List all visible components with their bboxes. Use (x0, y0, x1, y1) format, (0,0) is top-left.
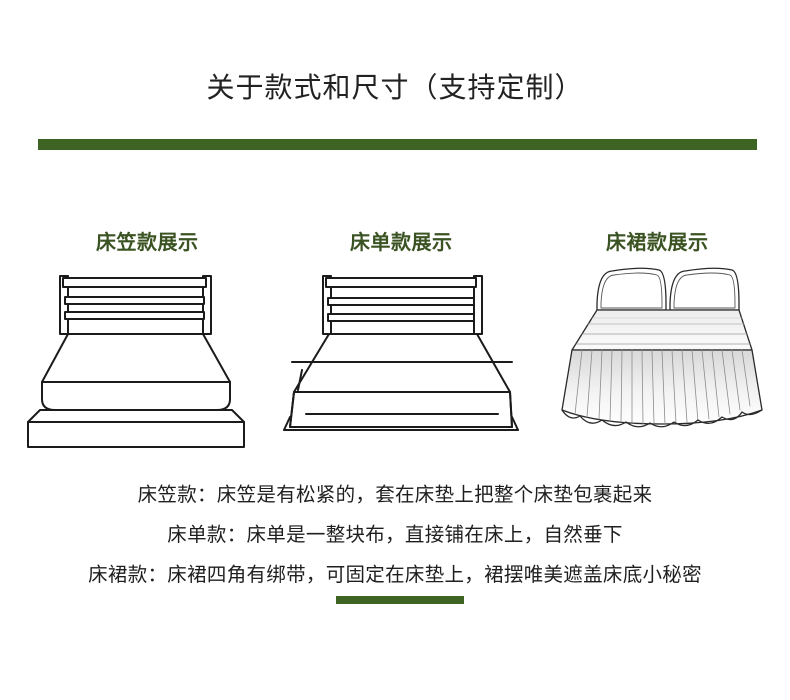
page-title: 关于款式和尺寸（支持定制） (0, 66, 790, 106)
bed-base (28, 410, 244, 447)
illustration-flat-sheet-bed (272, 262, 522, 452)
flat-sheet-drape (284, 334, 518, 430)
section-label-flat-sheet: 床单款展示 (350, 226, 453, 255)
bottom-divider (336, 596, 464, 604)
product-detail-page: 关于款式和尺寸（支持定制） 床笠款展示 床单款展示 床裙款展示 (0, 0, 790, 700)
illustration-fitted-sheet-bed (18, 262, 268, 452)
headboard-icon (323, 276, 482, 334)
description-line-bed-skirt: 床裙款：床裙四角有绑带，可固定在床垫上，裙摆唯美遮盖床底小秘密 (0, 558, 790, 587)
illustration-bed-skirt (524, 252, 776, 447)
top-divider (38, 139, 757, 150)
pillow-left (597, 268, 666, 310)
section-label-bed-skirt: 床裙款展示 (606, 226, 709, 255)
section-label-fitted-sheet: 床笠款展示 (96, 226, 199, 255)
description-line-fitted-sheet: 床笠款：床笠是有松紧的，套在床垫上把整个床垫包裹起来 (0, 478, 790, 507)
description-line-flat-sheet: 床单款：床单是一整块布，直接铺在床上，自然垂下 (0, 518, 790, 547)
mattress-with-fitted-sheet (42, 334, 230, 410)
bed-skirt-ruffle (562, 350, 762, 427)
bed-top-surface (572, 310, 752, 350)
headboard-icon (60, 276, 211, 334)
pillow-right (670, 268, 739, 310)
